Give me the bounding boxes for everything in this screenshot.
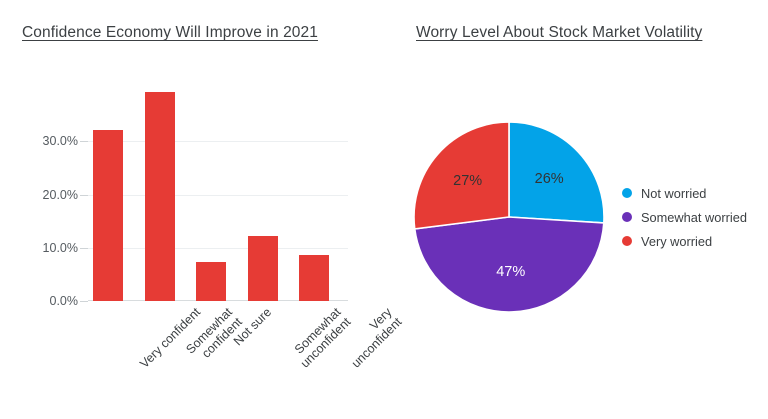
bar[interactable]: [145, 92, 175, 301]
pie-slice[interactable]: [509, 122, 604, 223]
legend-item-label: Not worried: [641, 186, 706, 201]
legend-swatch-dot-icon: [622, 236, 632, 246]
y-tick-mark: [80, 195, 88, 196]
bar[interactable]: [299, 255, 329, 301]
legend-item[interactable]: Somewhat worried: [622, 205, 762, 229]
y-tick-mark: [80, 141, 88, 142]
bar-chart-x-axis: Very confidentSomewhat confidentNot sure…: [88, 305, 368, 415]
y-tick-mark: [80, 248, 88, 249]
y-axis-tick-label: 30.0%: [43, 134, 78, 148]
bar-chart-y-axis: 30.0%20.0%10.0%0.0%: [10, 60, 78, 301]
y-axis-tick-label: 10.0%: [43, 241, 78, 255]
legend-swatch-dot-icon: [622, 188, 632, 198]
bar-chart-title: Confidence Economy Will Improve in 2021: [22, 24, 318, 42]
legend-item-label: Very worried: [641, 234, 712, 249]
gridline: [88, 141, 348, 142]
pie-chart-title: Worry Level About Stock Market Volatilit…: [416, 24, 702, 42]
bar[interactable]: [196, 262, 226, 301]
bar[interactable]: [93, 130, 123, 301]
pie-slice[interactable]: [415, 217, 604, 312]
legend-item-label: Somewhat worried: [641, 210, 747, 225]
y-axis-tick-label: 20.0%: [43, 188, 78, 202]
pie-chart-svg: [414, 122, 604, 312]
pie-chart-legend: Not worriedSomewhat worriedVery worried: [622, 181, 762, 253]
x-axis-category-label: Somewhat unconfident: [287, 305, 353, 371]
gridline: [88, 248, 348, 249]
pie-chart-graphic: 26%47%27%: [414, 122, 604, 312]
y-tick-mark: [80, 301, 88, 302]
bar-chart-panel: Confidence Economy Will Improve in 2021 …: [0, 0, 384, 419]
bar[interactable]: [248, 236, 278, 301]
gridline: [88, 195, 348, 196]
pie-chart-panel: Worry Level About Stock Market Volatilit…: [384, 0, 768, 419]
legend-item[interactable]: Very worried: [622, 229, 762, 253]
legend-item[interactable]: Not worried: [622, 181, 762, 205]
legend-swatch-dot-icon: [622, 212, 632, 222]
pie-slice[interactable]: [414, 122, 509, 229]
bar-chart-plot-area: [88, 60, 348, 301]
y-axis-tick-label: 0.0%: [50, 294, 79, 308]
